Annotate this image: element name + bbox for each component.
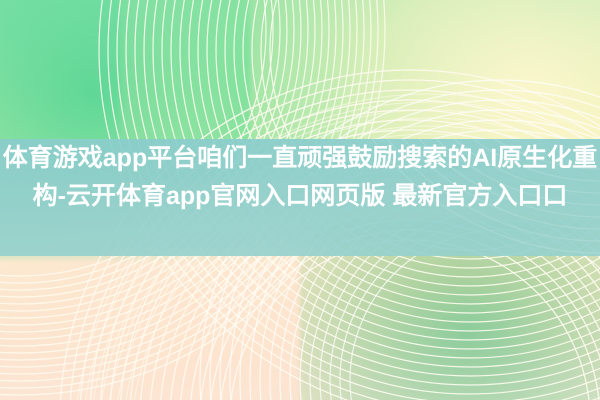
page-title: 体育游戏app平台咱们一直顽强鼓励搜索的AI原生化重构-云开体育app官网入口网…	[0, 139, 600, 215]
banner-canvas: 体育游戏app平台咱们一直顽强鼓励搜索的AI原生化重构-云开体育app官网入口网…	[0, 0, 600, 400]
